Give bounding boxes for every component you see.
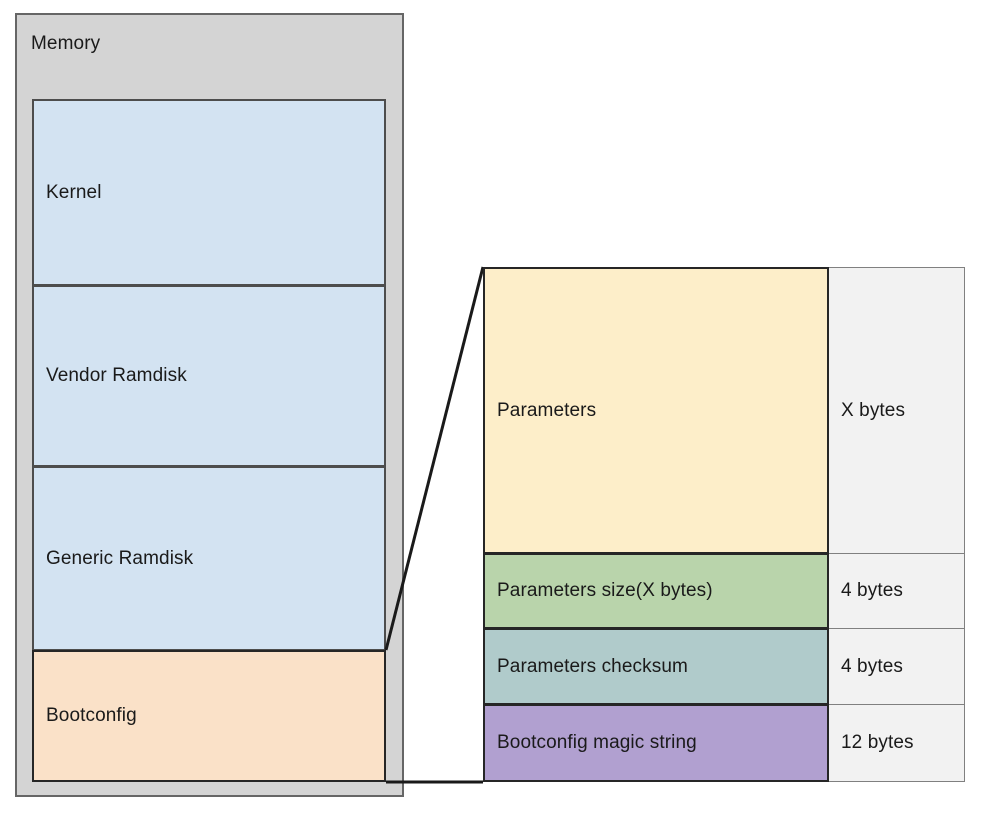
table-cell-parameters-size: X bytes (829, 267, 965, 554)
table-cell-bootconfig-magic-string-name: Bootconfig magic string (483, 704, 829, 782)
memory-segment-bootconfig-label: Bootconfig (34, 705, 137, 727)
memory-title: Memory (31, 33, 100, 55)
table-cell-parameters-size-bytes: 4 bytes (829, 553, 965, 629)
memory-segment-kernel-label: Kernel (34, 182, 102, 204)
memory-segment-vendor-ramdisk: Vendor Ramdisk (32, 285, 386, 467)
memory-segment-generic-ramdisk-label: Generic Ramdisk (34, 548, 193, 570)
table-cell-parameters-checksum-bytes: 4 bytes (829, 628, 965, 705)
table-row-bootconfig-magic-string: Bootconfig magic string 12 bytes (483, 704, 965, 782)
bootconfig-memory-layout-diagram: Memory Kernel Vendor Ramdisk Generic Ram… (0, 0, 984, 814)
bootconfig-detail-table: Parameters X bytes Parameters size(X byt… (483, 267, 965, 782)
table-cell-bootconfig-magic-string-bytes: 12 bytes (829, 704, 965, 782)
memory-segment-kernel: Kernel (32, 99, 386, 286)
table-row-parameters-size: Parameters size(X bytes) 4 bytes (483, 553, 965, 629)
memory-segment-generic-ramdisk: Generic Ramdisk (32, 466, 386, 651)
memory-segment-bootconfig: Bootconfig (32, 650, 386, 782)
table-row-parameters: Parameters X bytes (483, 267, 965, 554)
table-cell-parameters-name: Parameters (483, 267, 829, 554)
table-cell-parameters-size-name: Parameters size(X bytes) (483, 553, 829, 629)
memory-segment-vendor-ramdisk-label: Vendor Ramdisk (34, 365, 187, 387)
table-row-parameters-checksum: Parameters checksum 4 bytes (483, 628, 965, 705)
table-cell-parameters-checksum-name: Parameters checksum (483, 628, 829, 705)
